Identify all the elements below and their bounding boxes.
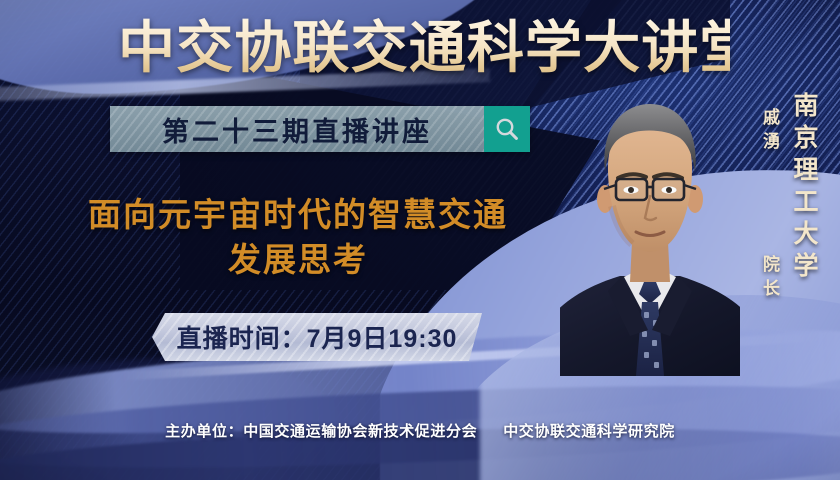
page-title: 中交协联交通科学大讲堂 — [118, 16, 730, 80]
lecture-topic-line-1: 面向元宇宙时代的智慧交通 — [88, 196, 508, 233]
speaker-portrait — [560, 86, 740, 376]
speaker-name: 戚湧 — [757, 108, 782, 156]
episode-banner-body: 第二十三期直播讲座 — [110, 106, 484, 152]
speaker-organization: 南京理工大学 — [786, 92, 822, 284]
footer-organizer-1: 中国交通运输协会新技术促进分会 — [243, 423, 477, 440]
lecture-topic-line-2: 发展思考 — [48, 237, 548, 282]
episode-banner: 第二十三期直播讲座 — [110, 106, 530, 152]
lecture-topic: 面向元宇宙时代的智慧交通 发展思考 — [48, 192, 548, 282]
broadcast-time-label: 直播时间：7月9日19:30 — [177, 319, 458, 355]
footer-prefix: 主办单位： — [165, 423, 243, 440]
live-lecture-poster: 中交协联交通科学大讲堂 第二十三期直播讲座 面向元宇宙时代的智慧交通 发展思考 … — [0, 0, 840, 480]
broadcast-time-badge: 直播时间：7月9日19:30 — [152, 313, 482, 361]
speaker-title: 院长 — [757, 255, 782, 303]
footer-organizer-2: 中交协联交通科学研究院 — [503, 423, 675, 440]
search-icon[interactable] — [484, 106, 530, 152]
poster-content: 中交协联交通科学大讲堂 第二十三期直播讲座 面向元宇宙时代的智慧交通 发展思考 … — [0, 0, 840, 480]
footer-organizers: 主办单位：中国交通运输协会新技术促进分会中交协联交通科学研究院 — [0, 420, 840, 441]
episode-label: 第二十三期直播讲座 — [162, 110, 432, 149]
